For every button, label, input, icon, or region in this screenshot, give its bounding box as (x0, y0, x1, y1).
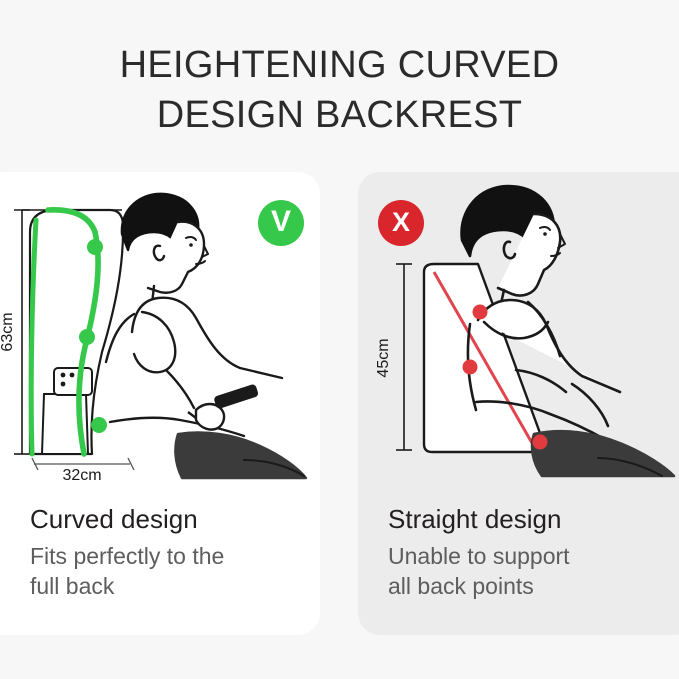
gap-point-lower (533, 435, 548, 450)
caption-straight-sub-line1: Unable to support (388, 543, 570, 569)
caption-curved-subtitle: Fits perfectly to the full back (30, 541, 310, 602)
caption-curved-title: Curved design (30, 504, 310, 535)
cross-badge: X (378, 200, 424, 246)
contact-point-lower (91, 417, 107, 433)
height-dimension-label: 45cm (375, 338, 392, 377)
infographic-root: { "title": { "line1": "HEIGHTENING CURVE… (0, 0, 679, 679)
remote-control-icon (213, 383, 259, 409)
hand-with-remote (188, 383, 259, 429)
page-title: HEIGHTENING CURVED DESIGN BACKREST (0, 40, 679, 140)
gap-point-upper (473, 305, 488, 320)
caption-straight-title: Straight design (388, 504, 668, 535)
height-dimension-label: 63cm (0, 312, 16, 351)
caption-curved-sub-line2: full back (30, 573, 114, 599)
height-dimension-45cm (396, 264, 412, 450)
check-badge-symbol: V (271, 207, 291, 237)
gap-point-middle (463, 360, 478, 375)
caption-curved-sub-line1: Fits perfectly to the (30, 543, 224, 569)
width-dimension-label: 32cm (62, 467, 101, 484)
caption-straight-sub-line2: all back points (388, 573, 534, 599)
comparison-panels: 63cm 32cm (0, 172, 679, 635)
contact-point-upper (87, 239, 103, 255)
title-line-2: DESIGN BACKREST (0, 90, 679, 140)
panel-straight-design: 45cm (358, 172, 679, 635)
cross-badge-symbol: X (392, 209, 410, 236)
panel-curved-design: 63cm 32cm (0, 172, 320, 635)
caption-straight-subtitle: Unable to support all back points (388, 541, 668, 602)
caption-curved: Curved design Fits perfectly to the full… (30, 504, 310, 602)
title-line-1: HEIGHTENING CURVED (0, 40, 679, 90)
caption-straight: Straight design Unable to support all ba… (388, 504, 668, 602)
check-badge: V (258, 200, 304, 246)
height-dimension-63cm (14, 210, 30, 454)
phone-icon (54, 368, 92, 395)
contact-point-middle (79, 329, 95, 345)
